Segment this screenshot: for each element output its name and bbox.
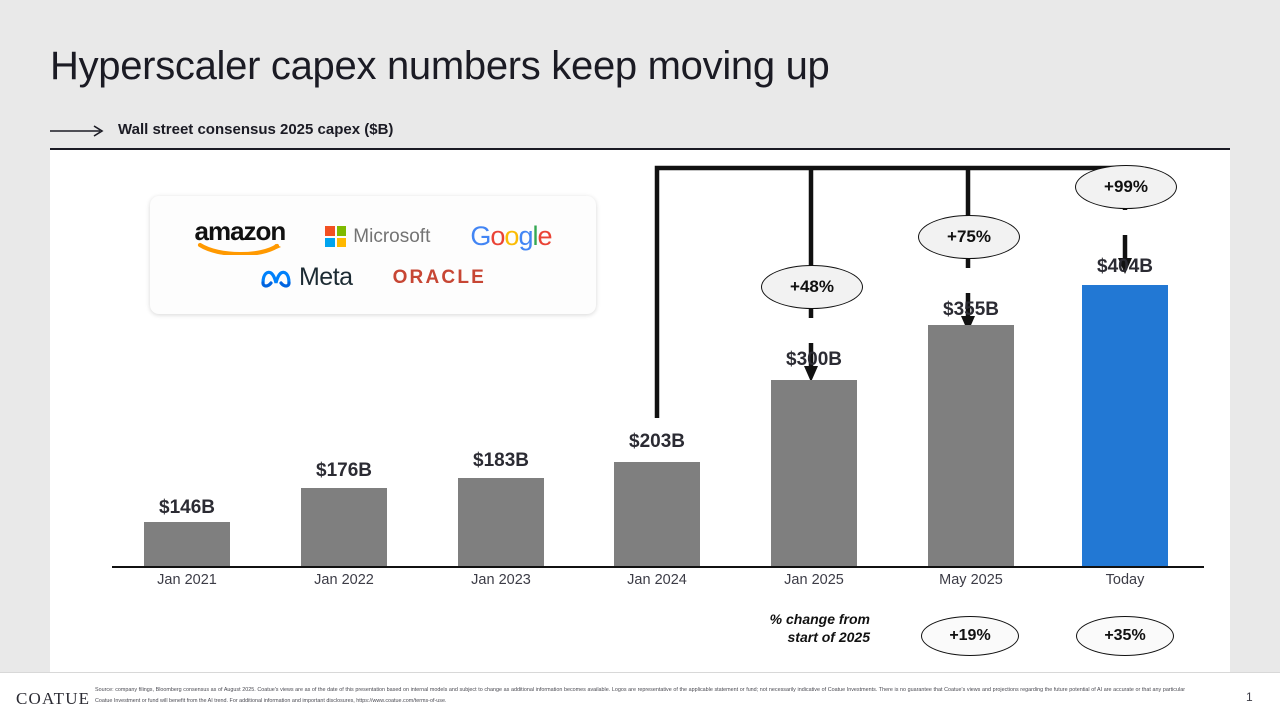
x-tick-jan-2022: Jan 2022 <box>291 572 397 588</box>
growth-bracket-connector <box>50 150 1230 470</box>
growth-callout-today: +99% <box>1075 165 1177 209</box>
subtitle-row: Wall street consensus 2025 capex ($B) <box>50 121 393 138</box>
growth-callout-jan-2025: +48% <box>761 265 863 309</box>
change-callout-label: +19% <box>949 627 990 645</box>
growth-callout-label: +75% <box>947 227 991 247</box>
coatue-logo: COATUE <box>16 689 90 709</box>
disclaimer-text: Source: company filings, Bloomberg conse… <box>95 685 1185 706</box>
change-caption-line1: % change from <box>770 611 870 627</box>
change-caption-line2: start of 2025 <box>788 629 870 645</box>
bar-value-jan-2022: $176B <box>291 460 397 482</box>
bar-value-today: $404B <box>1072 256 1178 278</box>
change-callout-may-2025: +19% <box>921 616 1019 656</box>
bar-jan-2022 <box>301 488 387 566</box>
x-tick-jan-2023: Jan 2023 <box>448 572 554 588</box>
x-tick-jan-2025: Jan 2025 <box>761 572 867 588</box>
chart-card: amazon Microsoft Google <box>50 150 1230 672</box>
x-tick-jan-2024: Jan 2024 <box>604 572 710 588</box>
plot-area: +48% +75% +99% $146B $176B $183B $203B $… <box>50 150 1230 672</box>
bar-may-2025 <box>928 325 1014 566</box>
page-number: 1 <box>1246 690 1253 704</box>
long-right-arrow-icon <box>50 124 108 136</box>
bar-value-jan-2025: $300B <box>761 349 867 371</box>
growth-callout-may-2025: +75% <box>918 215 1020 259</box>
change-callout-today: +35% <box>1076 616 1174 656</box>
growth-callout-label: +99% <box>1104 177 1148 197</box>
bar-value-jan-2023: $183B <box>448 450 554 472</box>
change-callout-label: +35% <box>1104 627 1145 645</box>
bar-value-jan-2021: $146B <box>134 497 240 519</box>
bar-today <box>1082 285 1168 566</box>
x-tick-jan-2021: Jan 2021 <box>134 572 240 588</box>
x-axis-line <box>112 566 1204 568</box>
subtitle-text: Wall street consensus 2025 capex ($B) <box>118 121 393 138</box>
bar-jan-2023 <box>458 478 544 566</box>
bar-jan-2021 <box>144 522 230 566</box>
bar-value-may-2025: $355B <box>918 299 1024 321</box>
bar-jan-2024 <box>614 462 700 566</box>
bar-value-jan-2024: $203B <box>604 431 710 453</box>
slide: Hyperscaler capex numbers keep moving up… <box>0 0 1280 720</box>
x-tick-today: Today <box>1072 572 1178 588</box>
footer-divider <box>0 672 1280 673</box>
page-title: Hyperscaler capex numbers keep moving up <box>50 44 830 89</box>
growth-callout-label: +48% <box>790 277 834 297</box>
change-caption: % change from start of 2025 <box>690 611 870 646</box>
bar-jan-2025 <box>771 380 857 566</box>
x-tick-may-2025: May 2025 <box>918 572 1024 588</box>
